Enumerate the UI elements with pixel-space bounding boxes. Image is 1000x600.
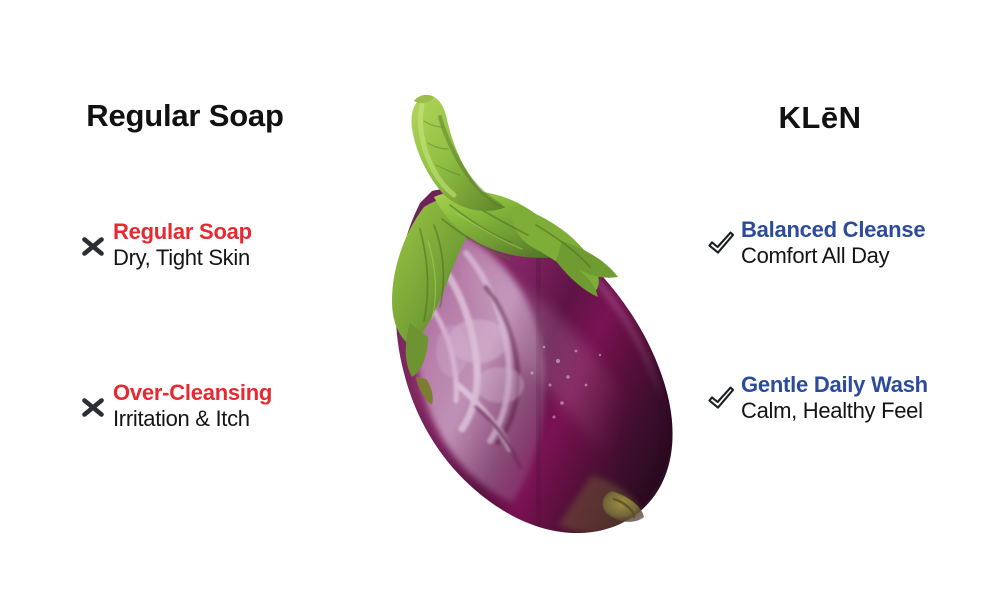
list-item: Regular Soap Dry, Tight Skin	[78, 221, 252, 269]
list-item-title: Regular Soap	[113, 221, 252, 243]
list-item-subtitle: Calm, Healthy Feel	[741, 400, 928, 422]
list-item-title: Gentle Daily Wash	[741, 374, 928, 396]
list-item: Over-Cleansing Irritation & Itch	[78, 382, 272, 430]
list-item-title: Balanced Cleanse	[741, 219, 925, 241]
list-item-subtitle: Comfort All Day	[741, 245, 925, 267]
list-item-subtitle: Irritation & Itch	[113, 408, 272, 430]
list-item: Balanced Cleanse Comfort All Day	[706, 219, 925, 267]
cross-mark-icon	[78, 389, 108, 423]
check-mark-icon	[706, 381, 736, 415]
eggplant-stem	[412, 95, 507, 211]
infographic-canvas: Regular Soap KLēN Regular Soap Dry, Tigh…	[0, 0, 1000, 600]
list-item-title: Over-Cleansing	[113, 382, 272, 404]
cross-mark-icon	[78, 228, 108, 262]
eggplant-svg	[300, 55, 700, 545]
list-item-subtitle: Dry, Tight Skin	[113, 247, 252, 269]
list-item: Gentle Daily Wash Calm, Healthy Feel	[706, 374, 928, 422]
eggplant-illustration	[300, 55, 700, 545]
check-mark-icon	[706, 226, 736, 260]
